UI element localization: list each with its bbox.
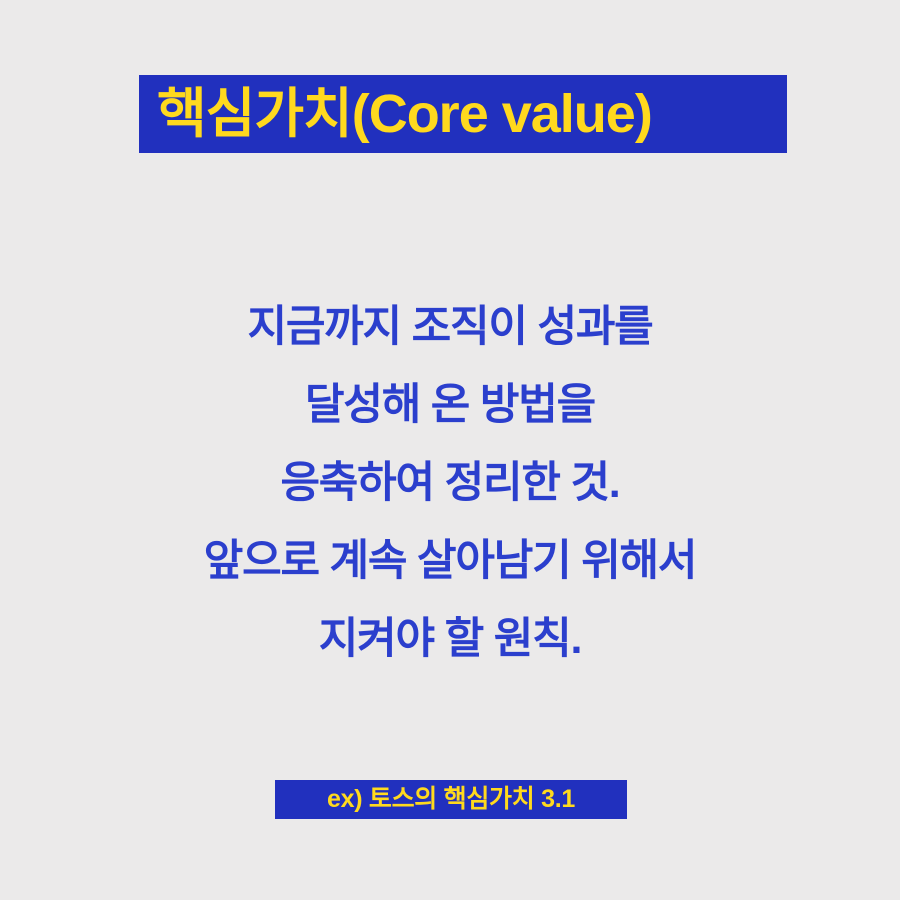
body-copy-block: 지금까지 조직이 성과를 달성해 온 방법을 응축하여 정리한 것. 앞으로 계… [0, 288, 900, 678]
body-line: 지금까지 조직이 성과를 [0, 288, 900, 366]
body-line: 응축하여 정리한 것. [0, 444, 900, 522]
body-line: 달성해 온 방법을 [0, 366, 900, 444]
example-badge: ex) 토스의 핵심가치 3.1 [275, 780, 627, 819]
body-line: 앞으로 계속 살아남기 위해서 [0, 522, 900, 600]
example-badge-label: ex) 토스의 핵심가치 3.1 [327, 787, 575, 812]
title-banner: 핵심가치(Core value) [139, 75, 787, 153]
page-title: 핵심가치(Core value) [157, 87, 652, 141]
slide-canvas: 핵심가치(Core value) 지금까지 조직이 성과를 달성해 온 방법을 … [0, 0, 900, 900]
body-line: 지켜야 할 원칙. [0, 600, 900, 678]
